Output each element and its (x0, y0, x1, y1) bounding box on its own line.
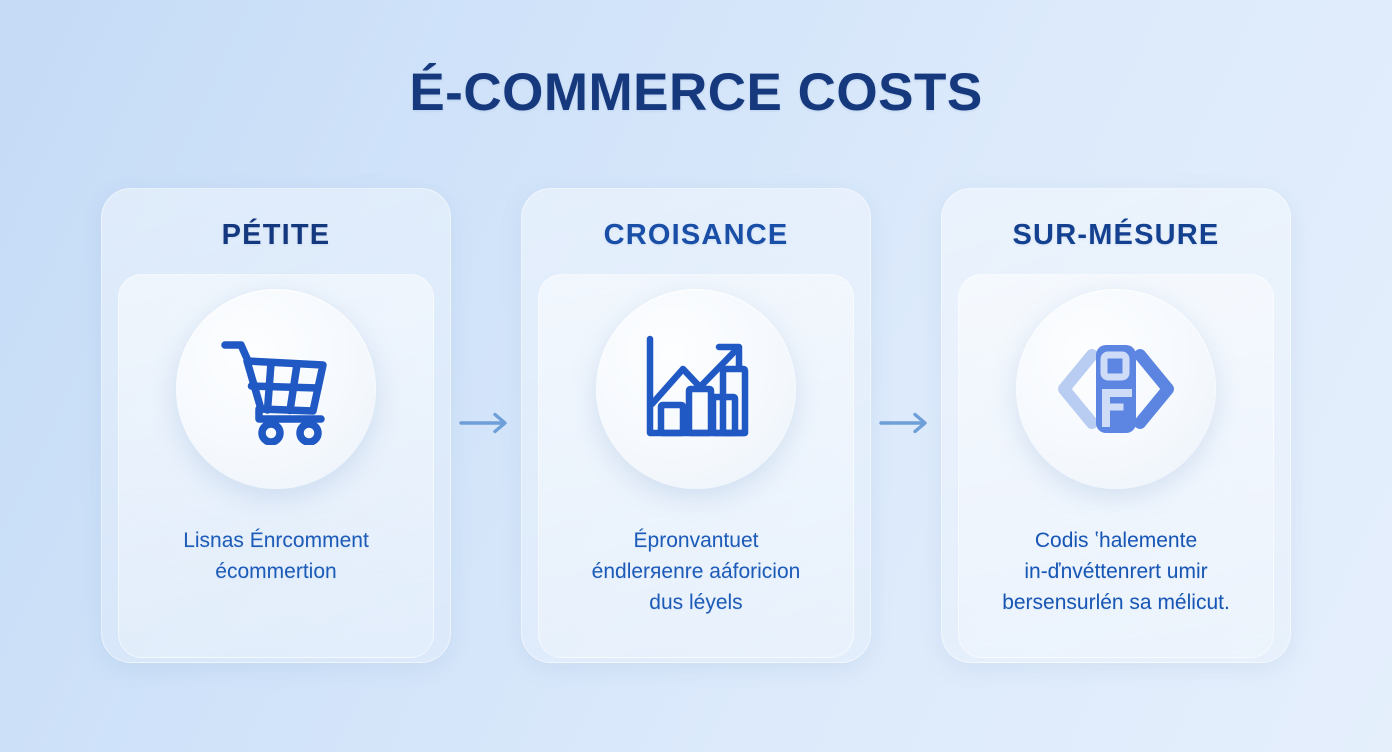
cards-row: PÉTITE (0, 188, 1392, 668)
card-title: SUR-MÉSURE (1013, 219, 1220, 252)
icon-circle (176, 289, 376, 489)
description-line: éndlerᴙenre aáforicion (551, 556, 841, 587)
card-description: Épronvantuet éndlerᴙenre aáforicion dus … (551, 525, 841, 618)
card-petite[interactable]: PÉTITE (101, 188, 451, 663)
card-inner-panel: Épronvantuet éndlerᴙenre aáforicion dus … (538, 274, 854, 658)
shopping-cart-icon (217, 333, 335, 445)
connector-arrow-2 (871, 188, 941, 663)
description-line: bersensurlén sa mélicut. (971, 587, 1261, 618)
card-description: Lisnas Énrcomment écommertion (131, 525, 421, 587)
arrow-right-icon (878, 410, 934, 441)
card-inner-panel: Codis ʽhalemente in-ďnvéttenrert umir be… (958, 274, 1274, 658)
connector-arrow-1 (451, 188, 521, 663)
description-line: Codis ʽhalemente (971, 525, 1261, 556)
infographic-canvas: É-COMMERCE COSTS PÉTITE (0, 0, 1392, 752)
card-croisance[interactable]: CROISANCE (521, 188, 871, 663)
card-title: PÉTITE (222, 219, 331, 252)
description-line: in-ďnvéttenrert umir (971, 556, 1261, 587)
description-line: écommertion (131, 556, 421, 587)
card-description: Codis ʽhalemente in-ďnvéttenrert umir be… (971, 525, 1261, 618)
arrow-right-icon (458, 410, 514, 441)
icon-circle (1016, 289, 1216, 489)
growth-chart-icon (637, 333, 755, 445)
card-title: CROISANCE (604, 219, 789, 252)
card-sur-mesure[interactable]: SUR-MÉSURE (941, 188, 1291, 663)
code-brackets-icon (1052, 337, 1180, 441)
description-line: Épronvantuet (551, 525, 841, 556)
page-title: É-COMMERCE COSTS (0, 62, 1392, 123)
description-line: Lisnas Énrcomment (131, 525, 421, 556)
card-inner-panel: Lisnas Énrcomment écommertion (118, 274, 434, 658)
icon-circle (596, 289, 796, 489)
description-line: dus léyels (551, 587, 841, 618)
